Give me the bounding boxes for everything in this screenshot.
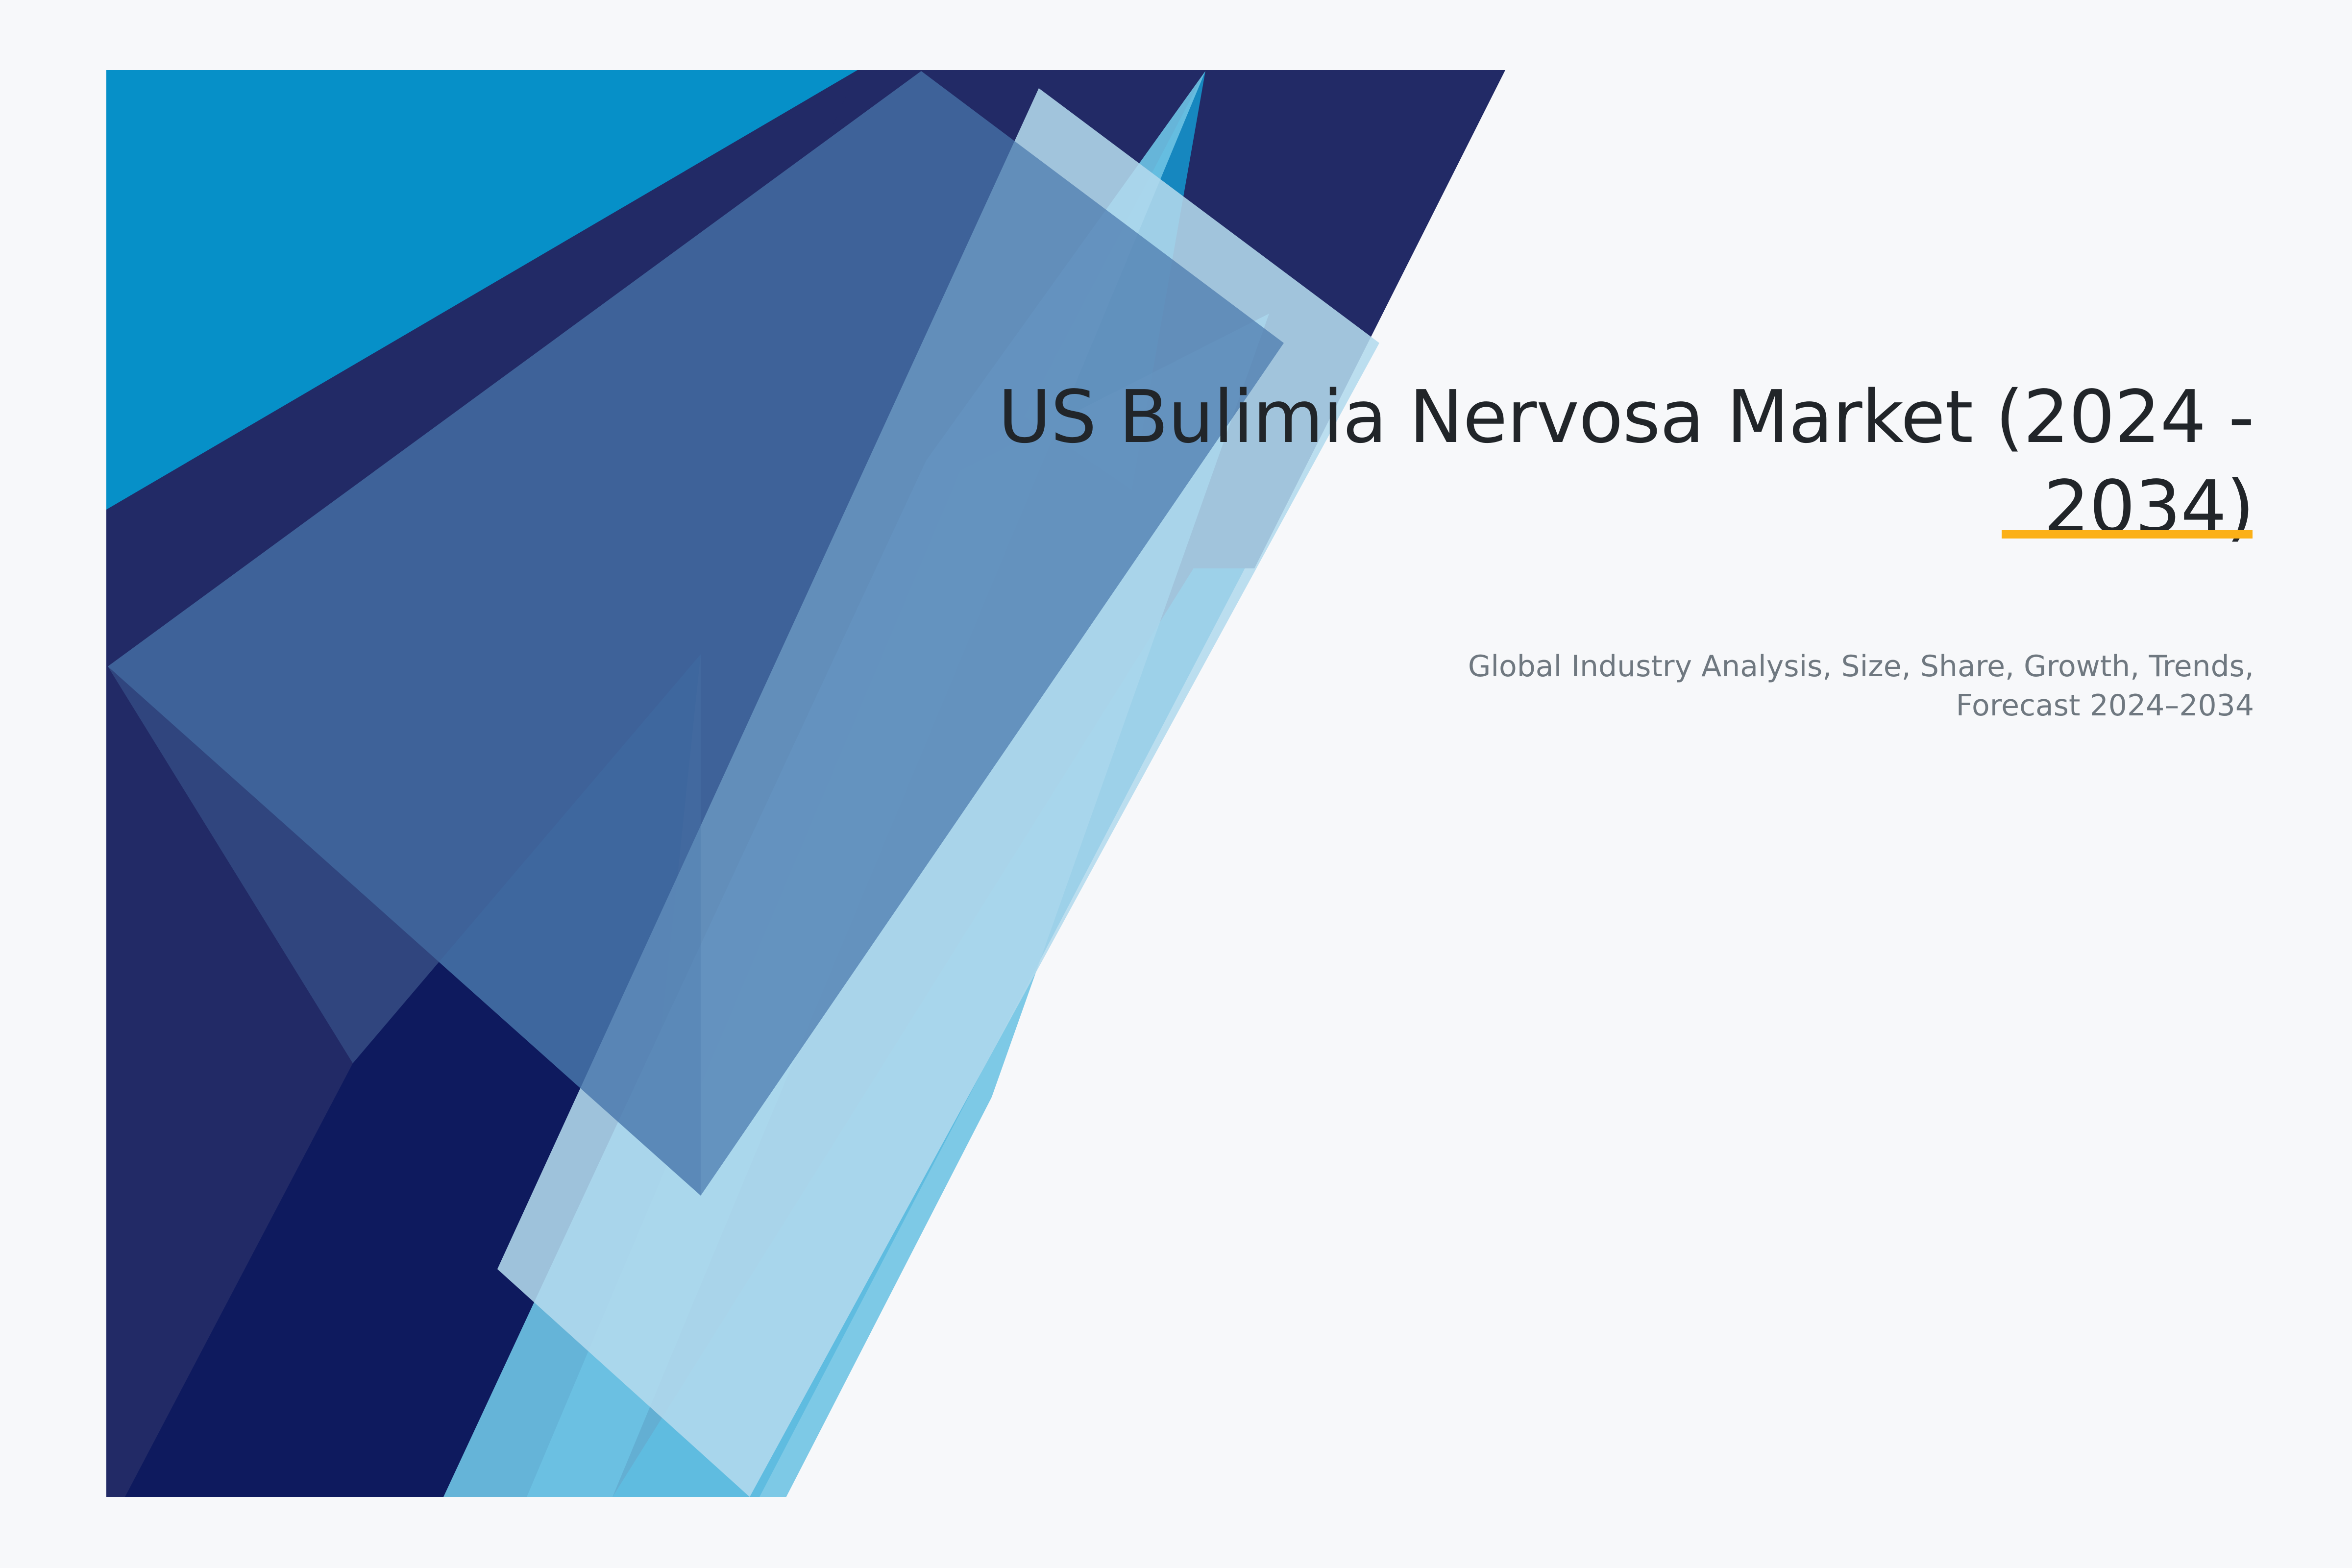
background-mask-bottom	[0, 1497, 2352, 1568]
page-subtitle: Global Industry Analysis, Size, Share, G…	[1421, 647, 2254, 726]
title-accent-underline	[2002, 530, 2253, 539]
page-title: US Bulimia Nervosa Market (2024 - 2034)	[921, 372, 2254, 552]
background-mask-top	[0, 0, 2352, 70]
abstract-geometric-graphic	[0, 0, 2352, 1568]
title-block: US Bulimia Nervosa Market (2024 - 2034)	[921, 372, 2254, 552]
slide-canvas: US Bulimia Nervosa Market (2024 - 2034) …	[0, 0, 2352, 1568]
background-mask-left	[0, 0, 106, 1568]
